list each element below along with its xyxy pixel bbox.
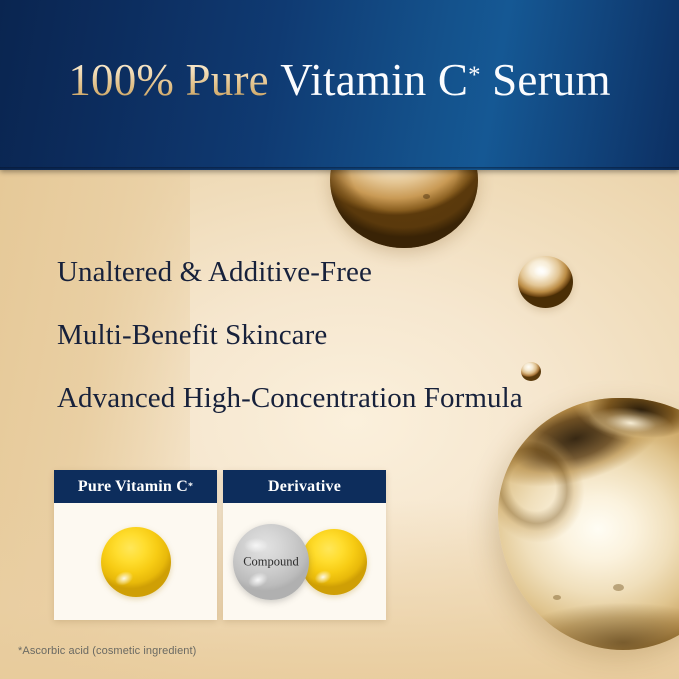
comparison-column-derivative: Derivative Compound [223, 470, 386, 620]
column-header-label: Derivative [268, 478, 341, 496]
column-body-pure-vitamin-c [54, 503, 217, 620]
yellow-sphere-icon [301, 529, 367, 595]
title-gold-part: 100% Pure [68, 55, 269, 105]
sphere-gloss [309, 566, 336, 589]
column-body-derivative: Compound [223, 503, 386, 620]
yellow-sphere-icon [101, 527, 171, 597]
sphere-gloss [241, 536, 271, 556]
title-asterisk: * [468, 62, 481, 89]
compound-label: Compound [233, 554, 309, 569]
feature-line-3: Advanced High-Concentration Formula [57, 384, 597, 413]
sphere-gloss [109, 566, 137, 590]
product-marketing-image: 100% Pure Vitamin C* Serum Unaltered & A… [0, 0, 679, 679]
feature-list: Unaltered & Additive-Free Multi-Benefit … [57, 258, 597, 447]
column-header-label: Pure Vitamin C [78, 478, 188, 496]
droplet-speck [613, 584, 624, 591]
comparison-table: Pure Vitamin C* Derivative Compound [54, 470, 386, 620]
footnote: *Ascorbic acid (cosmetic ingredient) [18, 645, 196, 657]
title-white-tail: Serum [492, 55, 611, 105]
comparison-column-pure-vitamin-c: Pure Vitamin C* [54, 470, 217, 620]
feature-line-2: Multi-Benefit Skincare [57, 321, 597, 350]
header-banner: 100% Pure Vitamin C* Serum [0, 0, 679, 170]
gray-compound-sphere-icon: Compound [233, 524, 309, 600]
column-header-pure-vitamin-c: Pure Vitamin C* [54, 470, 217, 503]
column-header-asterisk: * [188, 481, 193, 492]
feature-line-1: Unaltered & Additive-Free [57, 258, 597, 287]
droplet-speck [553, 595, 561, 600]
title-white-part: Vitamin C [280, 55, 468, 105]
page-title: 100% Pure Vitamin C* Serum [0, 58, 679, 103]
droplet-speck [423, 194, 430, 199]
column-header-derivative: Derivative [223, 470, 386, 503]
sphere-gloss [243, 566, 274, 593]
